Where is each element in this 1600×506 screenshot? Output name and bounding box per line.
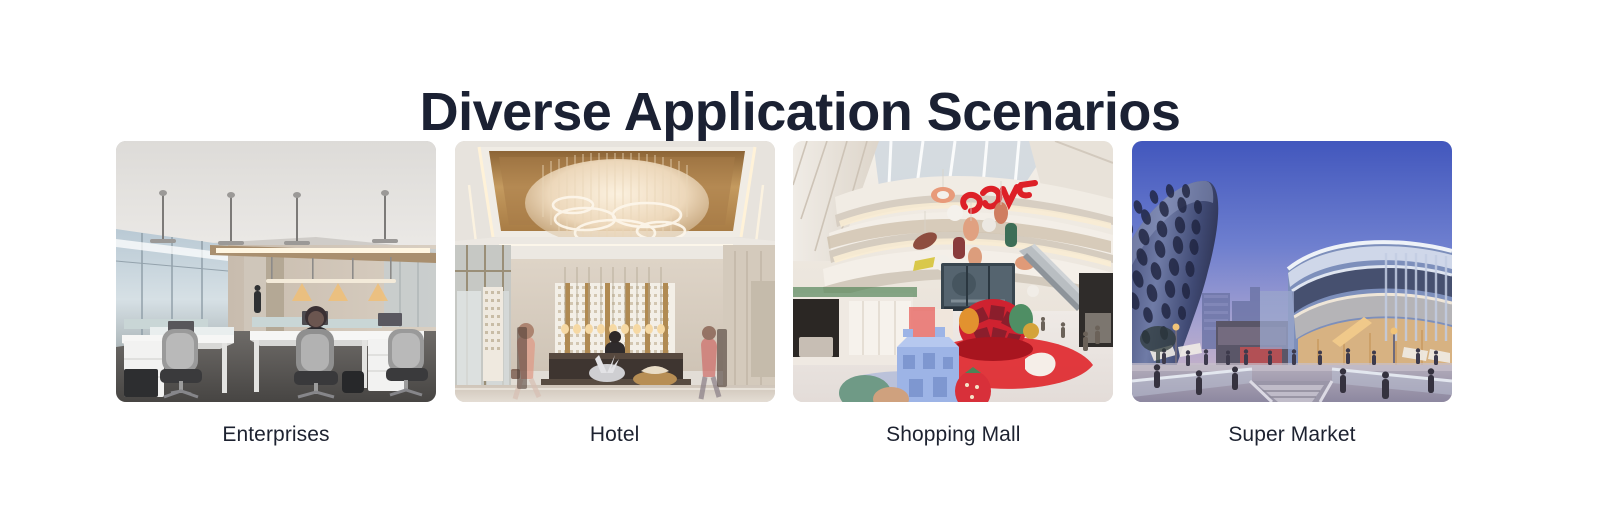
page-title: Diverse Application Scenarios xyxy=(0,80,1600,145)
application-scenarios-section: Diverse Application Scenarios xyxy=(0,0,1600,506)
shopping-mall-photo xyxy=(793,141,1113,402)
scenario-card-enterprises[interactable]: Enterprises xyxy=(116,141,436,447)
scenario-card-hotel[interactable]: Hotel xyxy=(455,141,775,447)
scenario-card-super-market[interactable]: Super Market xyxy=(1132,141,1452,447)
hotel-lobby-photo xyxy=(455,141,775,402)
scenario-caption: Super Market xyxy=(1228,423,1355,447)
scenario-caption: Enterprises xyxy=(222,423,329,447)
scenario-caption: Hotel xyxy=(590,423,640,447)
enterprises-office-photo xyxy=(116,141,436,402)
scenario-caption: Shopping Mall xyxy=(886,423,1020,447)
super-market-photo xyxy=(1132,141,1452,402)
scenario-card-list: Enterprises xyxy=(116,141,1452,461)
scenario-card-shopping-mall[interactable]: Shopping Mall xyxy=(793,141,1113,447)
